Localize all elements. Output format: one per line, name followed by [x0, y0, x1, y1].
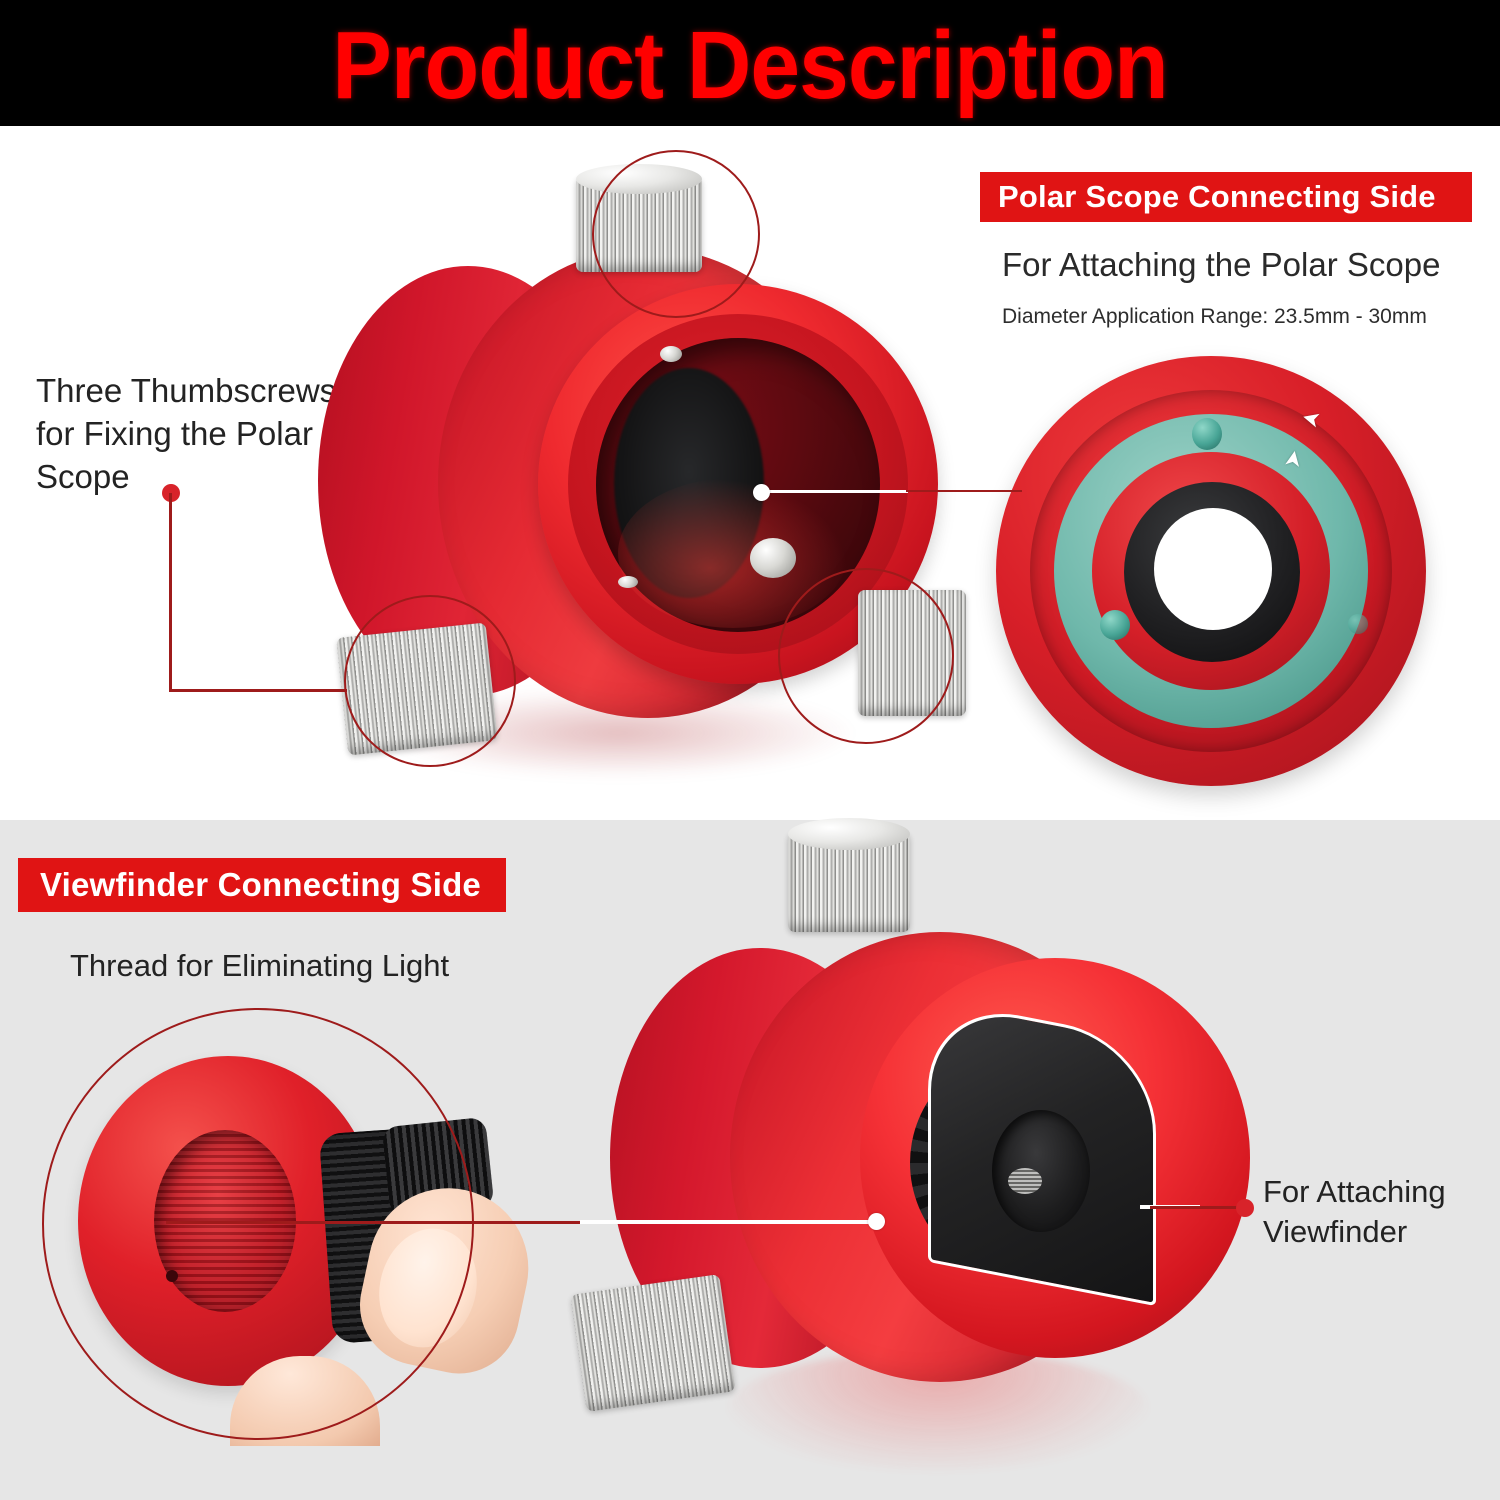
viewfinder-callout-dot [1236, 1199, 1254, 1217]
bore-callout-dot [753, 484, 770, 501]
thumbscrew-top-highlight-ring [592, 150, 760, 318]
thumbscrews-callout-line-vertical [169, 493, 172, 691]
thread-eliminating-light-label: Thread for Eliminating Light [70, 948, 449, 984]
thumbscrew-left-highlight-ring [344, 595, 516, 767]
polar-scope-front-detail-image: ➤ ➤ [996, 356, 1426, 786]
thumbscrews-callout-line-horizontal [169, 689, 347, 692]
setscrew-tip-right [750, 538, 796, 578]
thumbscrew-right-highlight-ring [778, 568, 954, 744]
thumbscrew-top-cap-b [788, 818, 910, 850]
viewfinder-callout-line-red [1150, 1206, 1246, 1209]
polar-scope-diameter-range: Diameter Application Range: 23.5mm - 30m… [1002, 305, 1427, 329]
attaching-viewfinder-label: For Attaching Viewfinder [1263, 1172, 1493, 1251]
thumbscrew-left-b [571, 1274, 736, 1412]
viewfinder-adapter-image [610, 880, 1250, 1480]
bore-callout-line-red [906, 490, 1022, 492]
setscrew-tip-top [660, 346, 682, 362]
thumbscrews-label: Three Thumbscrews for Fixing the Polar S… [36, 370, 366, 499]
detail-setscrew-bottom-left [1100, 610, 1130, 640]
detail-center-aperture [1154, 508, 1272, 630]
polar-scope-badge: Polar Scope Connecting Side [980, 172, 1472, 222]
thread-callout-line-red [166, 1221, 584, 1224]
detail-setscrew-bottom-right [1348, 614, 1368, 634]
viewfinder-mount-bore [992, 1110, 1090, 1232]
thread-callout-line-white [580, 1220, 880, 1224]
product-description-page: Product Description Polar Scope Connecti… [0, 0, 1500, 1500]
thread-detail-highlight-ring [42, 1008, 474, 1440]
up-arrow-icon: ➤ [1281, 448, 1306, 470]
viewfinder-badge: Viewfinder Connecting Side [18, 858, 506, 912]
thread-callout-dot [868, 1213, 885, 1230]
mount-thread [1008, 1168, 1042, 1194]
polar-scope-subtitle: For Attaching the Polar Scope [1002, 246, 1440, 284]
page-title: Product Description [53, 6, 1448, 126]
setscrew-tip-bottom [618, 576, 638, 588]
bore-callout-line-white [762, 490, 908, 493]
detail-setscrew-top [1192, 418, 1222, 450]
